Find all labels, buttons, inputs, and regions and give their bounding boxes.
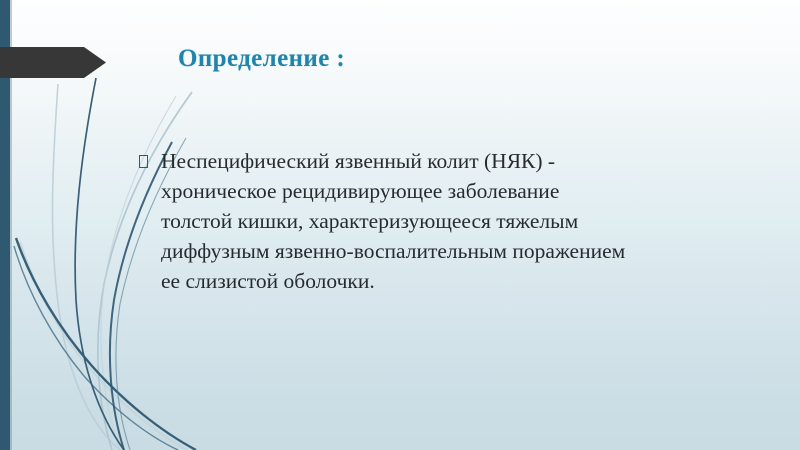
bullet-line: диффузным язвенно-воспалительным поражен… <box>161 236 769 266</box>
bullet-line: хроническое рецидивирующее заболевание <box>161 176 769 206</box>
bullet-line: ее слизистой оболочки. <box>161 266 769 296</box>
slide-body: Неспецифический язвенный колит (НЯК) - х… <box>139 146 769 296</box>
slide-title: Определение : <box>178 45 345 73</box>
arrow-banner-shape <box>0 47 106 78</box>
list-item: Неспецифический язвенный колит (НЯК) - х… <box>139 146 769 296</box>
slide-canvas: Определение : Неспецифический язвенный к… <box>0 0 800 450</box>
bullet-text: Неспецифический язвенный колит (НЯК) - х… <box>161 146 769 296</box>
bullet-marker-icon <box>139 146 161 176</box>
bullet-line: толстой кишки, характеризующееся тяжелым <box>161 206 769 236</box>
bullet-line: Неспецифический язвенный колит (НЯК) - <box>161 146 769 176</box>
